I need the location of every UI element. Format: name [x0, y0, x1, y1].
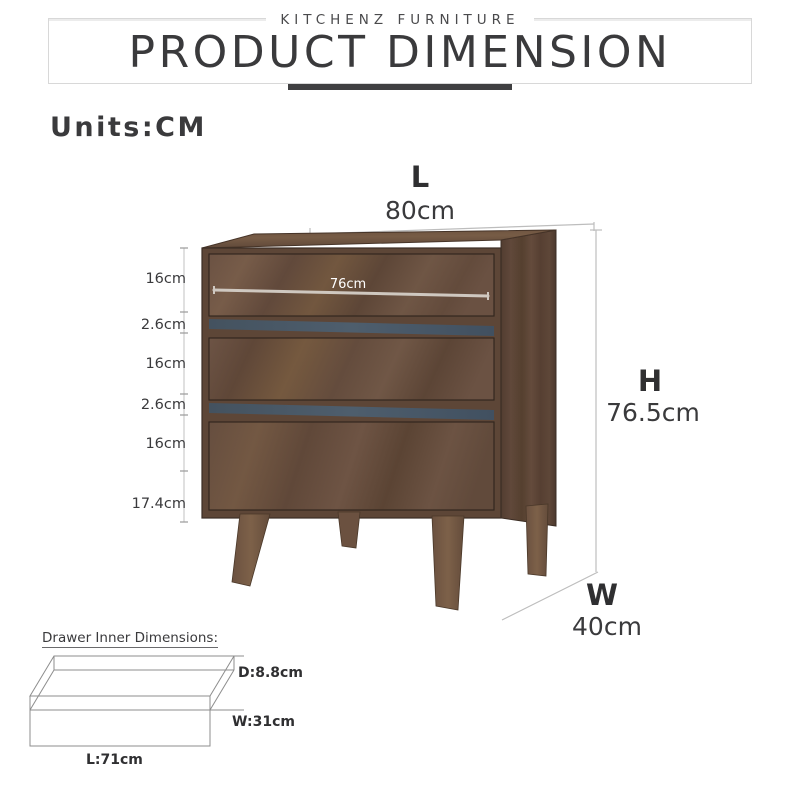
brand-name: KITCHENZ FURNITURE — [266, 12, 533, 28]
drawer-front-width-label: 76cm — [330, 277, 366, 292]
product-dimension-page: KITCHENZ FURNITURE PRODUCT DIMENSION Uni… — [0, 0, 800, 800]
side-measure-2: 2.6cm — [141, 317, 186, 333]
drawer-front-2 — [209, 338, 494, 400]
side-measure-5: 16cm — [145, 436, 186, 452]
drawer-inner-title: Drawer Inner Dimensions: — [42, 630, 218, 648]
drawer-inner-depth: D:8.8cm — [238, 665, 303, 681]
width-value: 40cm — [552, 612, 662, 641]
leg-middle — [338, 512, 360, 548]
drawer-inner-length: L:71cm — [86, 752, 143, 768]
leg-back-right — [526, 504, 548, 576]
page-title: PRODUCT DIMENSION — [48, 28, 752, 78]
height-value: 76.5cm — [596, 398, 710, 427]
length-value: 80cm — [360, 196, 480, 225]
drawer-front-3 — [209, 422, 494, 510]
leg-front-right — [432, 516, 464, 610]
cabinet-side-panel — [501, 230, 556, 526]
side-measure-3: 16cm — [145, 356, 186, 372]
side-measure-4: 2.6cm — [141, 397, 186, 413]
side-measurement-stack: 16cm 2.6cm 16cm 2.6cm 16cm 17.4cm — [110, 226, 186, 526]
units-label: Units:CM — [50, 112, 207, 143]
side-measure-6: 17.4cm — [132, 496, 186, 512]
side-measure-1: 16cm — [145, 271, 186, 287]
title-underline — [288, 84, 512, 90]
drawer-inner-width: W:31cm — [232, 714, 295, 730]
height-letter: H — [620, 364, 680, 398]
cabinet-illustration: 76cm — [196, 226, 596, 618]
leg-front-left — [232, 514, 270, 586]
width-letter: W — [572, 578, 632, 612]
length-letter: L — [385, 160, 455, 194]
